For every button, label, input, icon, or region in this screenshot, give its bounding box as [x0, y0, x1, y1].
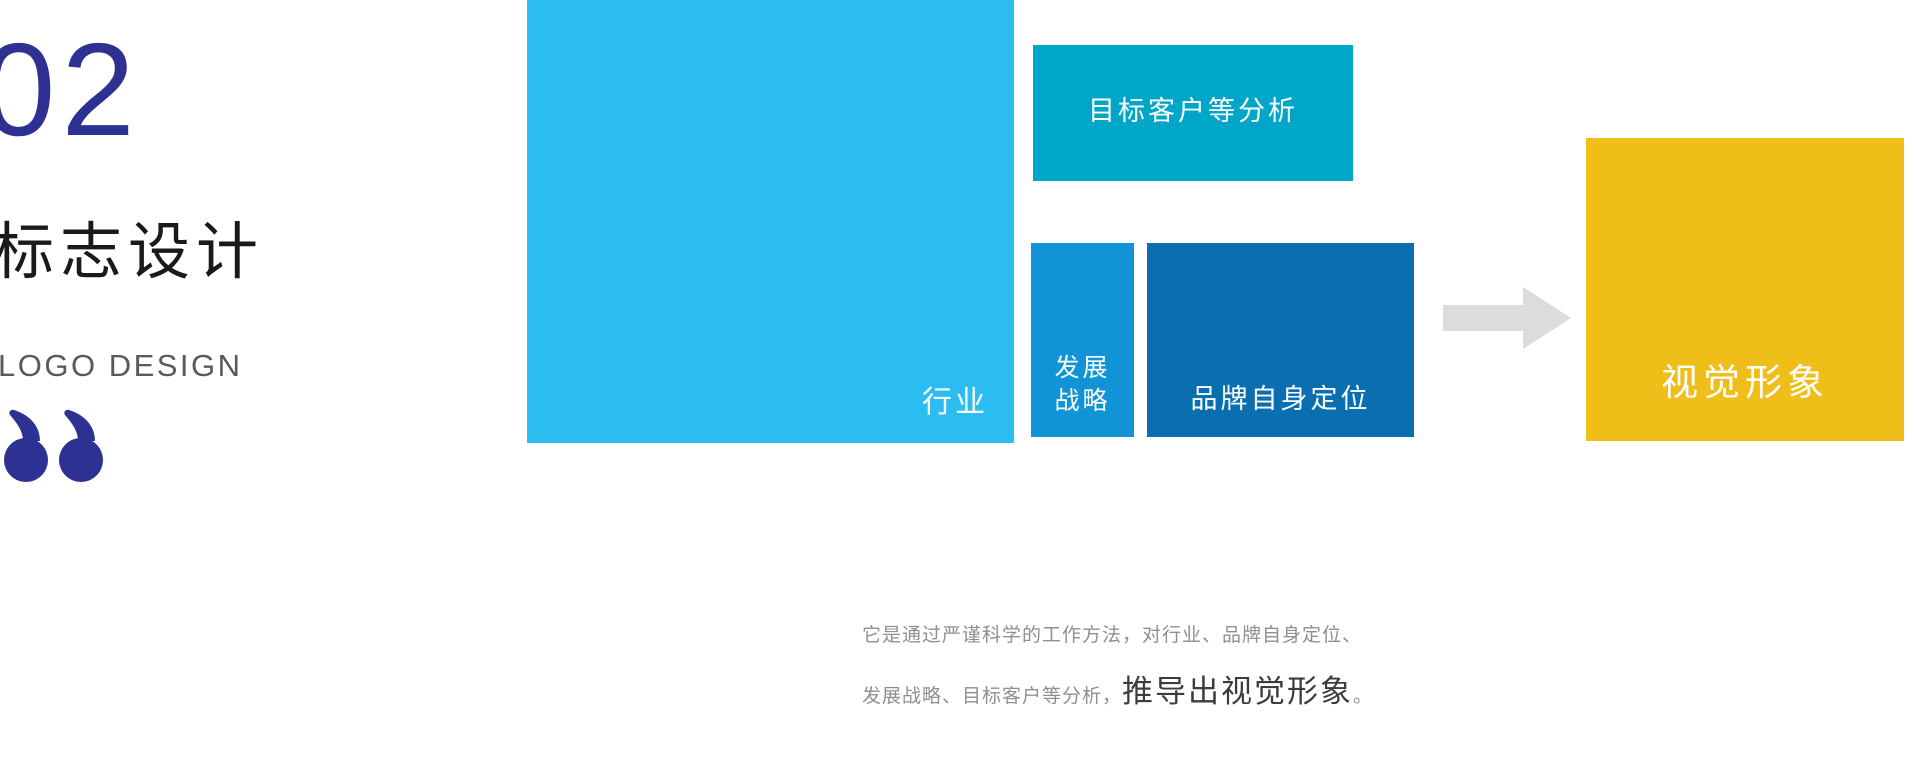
caption-line-2-prefix: 发展战略、目标客户等分析，: [862, 686, 1122, 707]
section-title-block: 02 标志设计 LOGO DESIGN: [0, 0, 420, 773]
page-subtitle: LOGO DESIGN: [0, 350, 243, 381]
page-title: 标志设计: [0, 222, 264, 284]
arrow-right-icon: [1443, 287, 1571, 349]
diagram-block-brand-label: 品牌自身定位: [1191, 383, 1371, 417]
caption-block: 它是通过严谨科学的工作方法，对行业、品牌自身定位、 发展战略、目标客户等分析，推…: [862, 608, 1582, 725]
diagram-block-visual-label: 视觉形象: [1661, 361, 1829, 405]
caption-line-1-text: 它是通过严谨科学的工作方法，对行业、品牌自身定位、: [862, 625, 1362, 646]
section-number: 02: [0, 24, 141, 156]
caption-line-1: 它是通过严谨科学的工作方法，对行业、品牌自身定位、: [862, 608, 1582, 664]
diagram-block-strategy-label: 发展 战略: [1054, 352, 1110, 420]
diagram-block-customer-label: 目标客户等分析: [1088, 95, 1298, 129]
diagram-block-industry[interactable]: 行业: [527, 0, 1014, 443]
diagram-block-customer[interactable]: 目标客户等分析: [1033, 45, 1353, 181]
open-quote-icon: [4, 398, 134, 488]
diagram-block-visual[interactable]: 视觉形象: [1586, 138, 1904, 441]
slide-canvas: 02 标志设计 LOGO DESIGN 行业 目标客户等分析 发展 战略: [0, 0, 1920, 773]
diagram-block-brand[interactable]: 品牌自身定位: [1147, 243, 1414, 437]
caption-line-2-emphasis: 推导出视觉形象: [1122, 674, 1353, 709]
diagram-block-strategy[interactable]: 发展 战略: [1031, 243, 1134, 437]
caption-line-2: 发展战略、目标客户等分析，推导出视觉形象。: [862, 664, 1582, 725]
caption-line-2-suffix: 。: [1353, 686, 1373, 707]
diagram-block-industry-label: 行业: [922, 384, 988, 422]
